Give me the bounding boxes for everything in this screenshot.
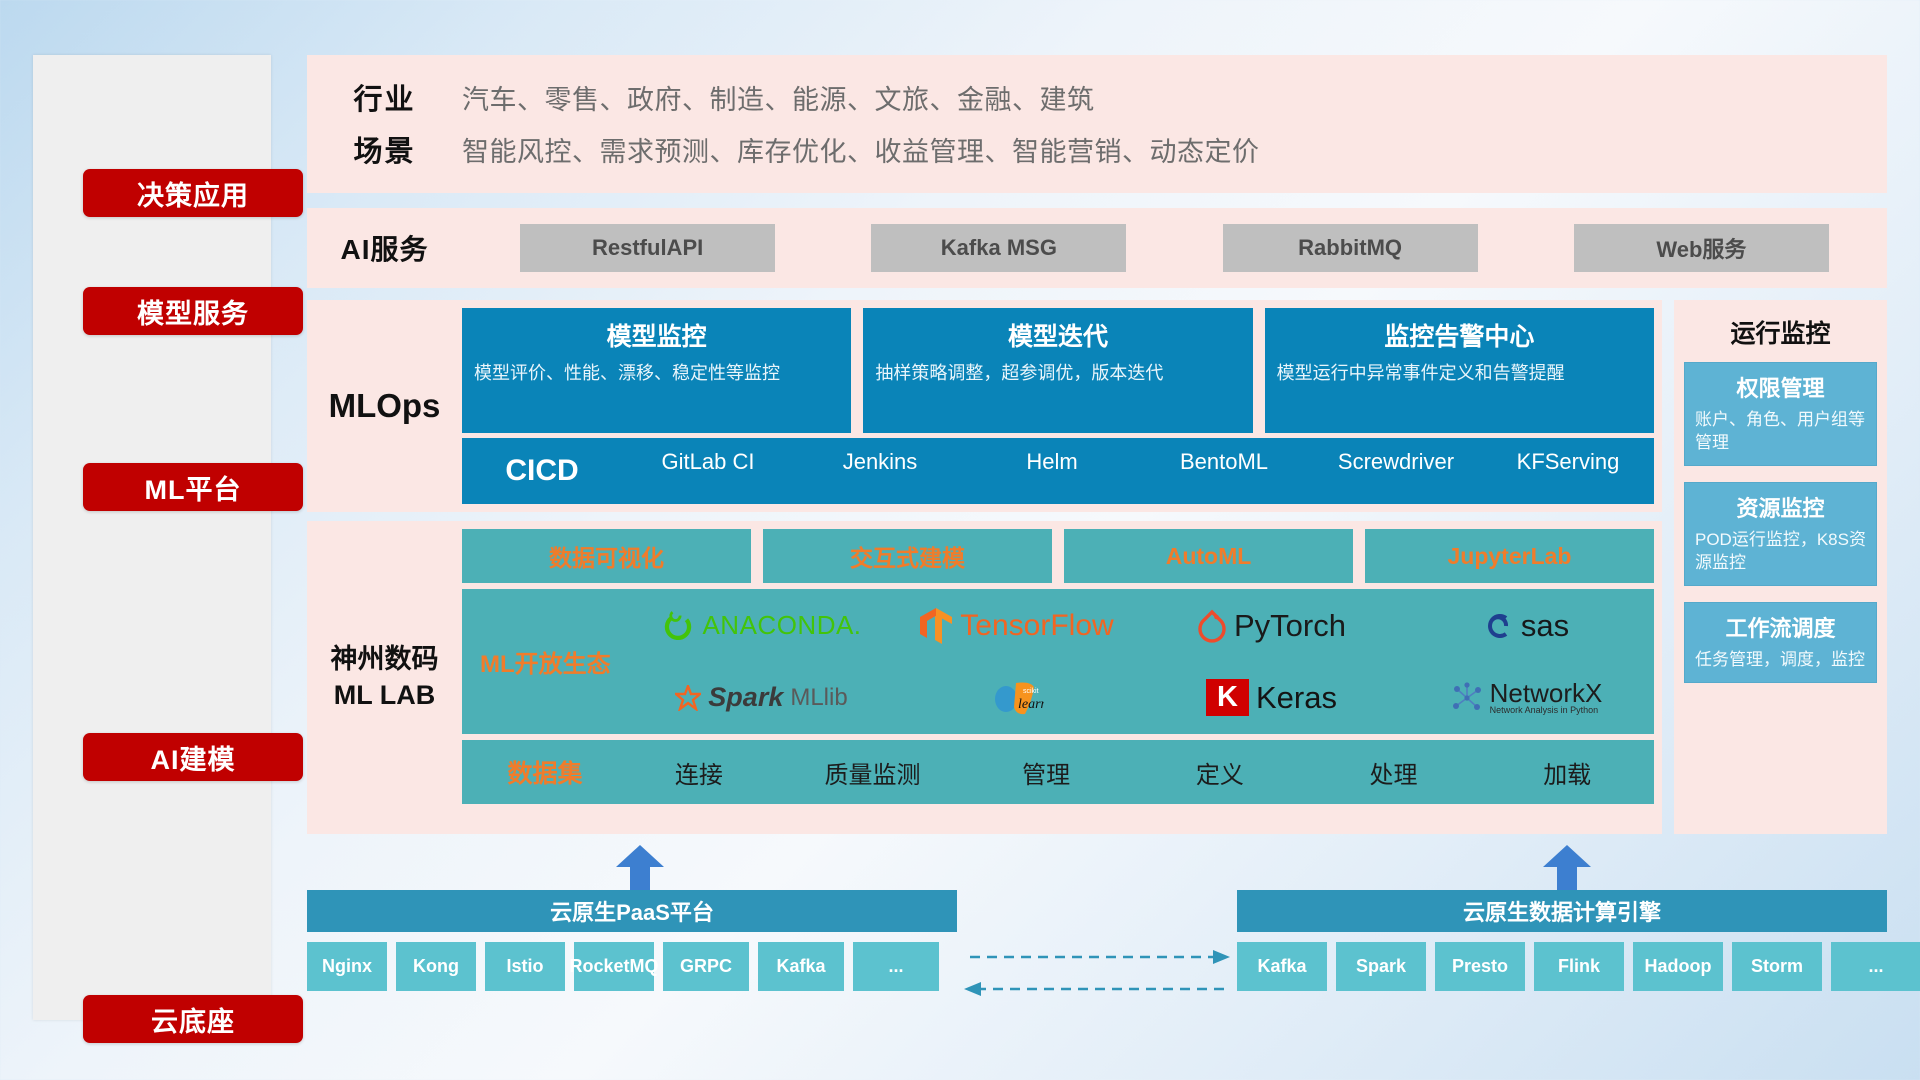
rail-item-model-service[interactable]: 模型服务	[83, 287, 303, 335]
ai-service-chip[interactable]: RabbitMQ	[1223, 224, 1478, 272]
card-title: 监控告警中心	[1277, 317, 1642, 353]
tab-jupyterlab[interactable]: JupyterLab	[1365, 529, 1654, 583]
cicd-item[interactable]: Screwdriver	[1310, 448, 1482, 494]
cicd-item[interactable]: Jenkins	[794, 448, 966, 494]
card-desc: 抽样策略调整，超参调优，版本迭代	[875, 361, 1240, 385]
logo-keras-text: Keras	[1256, 680, 1337, 716]
logo-networkx-subtext: Network Analysis in Python	[1490, 706, 1603, 715]
data-engine-bar[interactable]: 云原生数据计算引擎	[1237, 890, 1887, 932]
cicd-item[interactable]: GitLab CI	[622, 448, 794, 494]
mlops-card-model-iteration[interactable]: 模型迭代 抽样策略调整，超参调优，版本迭代	[863, 308, 1252, 433]
logo-anaconda: ANACONDA.	[634, 609, 889, 643]
card-title: 权限管理	[1695, 371, 1866, 403]
monitor-card-resources[interactable]: 资源监控 POD运行监控，K8S资源监控	[1684, 482, 1877, 586]
ml-lab-label-line1: 神州数码	[331, 642, 439, 677]
monitor-card-permissions[interactable]: 权限管理 账户、角色、用户组等管理	[1684, 362, 1877, 466]
rail-label: AI建模	[151, 738, 236, 777]
engine-chip-more[interactable]: ...	[1831, 942, 1920, 991]
card-title: 工作流调度	[1695, 611, 1866, 643]
ml-ecosystem-label: ML开放生态	[480, 644, 630, 679]
paas-platform-bar[interactable]: 云原生PaaS平台	[307, 890, 957, 932]
ml-lab-label-line2: ML LAB	[334, 678, 436, 713]
card-desc: 模型运行中异常事件定义和告警提醒	[1277, 361, 1642, 385]
engine-chip-group: Kafka Spark Presto Flink Hadoop Storm ..…	[1237, 942, 1920, 991]
ml-lab-content: 数据可视化 交互式建模 AutoML JupyterLab ML开放生态	[462, 521, 1662, 834]
card-desc: 模型评价、性能、漂移、稳定性等监控	[474, 361, 839, 385]
left-rail: 决策应用 模型服务 ML平台 AI建模 云底座	[33, 55, 271, 1020]
ml-lab-tab-group: 数据可视化 交互式建模 AutoML JupyterLab	[462, 529, 1654, 583]
paas-chip-more[interactable]: ...	[853, 942, 939, 991]
mlops-card-model-monitor[interactable]: 模型监控 模型评价、性能、漂移、稳定性等监控	[462, 308, 851, 433]
card-desc: 账户、角色、用户组等管理	[1695, 409, 1866, 455]
rail-label: 决策应用	[137, 174, 249, 213]
bidirectional-dashed-connector-icon	[962, 945, 1232, 1001]
scenario-values: 智能风控、需求预测、库存优化、收益管理、智能营销、动态定价	[462, 130, 1260, 169]
dataset-item-group: 连接 质量监测 管理 定义 处理 加载	[612, 755, 1654, 790]
industry-row: 行业 汽车、零售、政府、制造、能源、文旅、金融、建筑	[307, 71, 1887, 123]
dataset-item[interactable]: 定义	[1133, 755, 1307, 790]
sas-icon	[1484, 611, 1514, 641]
rail-label: 模型服务	[137, 292, 249, 331]
mlops-band: MLOps 模型监控 模型评价、性能、漂移、稳定性等监控 模型迭代 抽样策略调整…	[307, 300, 1662, 512]
cicd-item[interactable]: Helm	[966, 448, 1138, 494]
logo-pytorch: PyTorch	[1144, 608, 1399, 644]
tab-interactive-modeling[interactable]: 交互式建模	[763, 529, 1052, 583]
dataset-item[interactable]: 连接	[612, 755, 786, 790]
paas-chip-nginx[interactable]: Nginx	[307, 942, 387, 991]
dataset-item[interactable]: 管理	[959, 755, 1133, 790]
engine-chip-presto[interactable]: Presto	[1435, 942, 1525, 991]
logo-tensorflow: TensorFlow	[889, 607, 1144, 645]
rail-label: 云底座	[151, 1000, 235, 1039]
pytorch-icon	[1197, 609, 1227, 643]
industry-values: 汽车、零售、政府、制造、能源、文旅、金融、建筑	[462, 78, 1095, 117]
card-title: 资源监控	[1695, 491, 1866, 523]
logo-anaconda-text: ANACONDA.	[702, 610, 861, 641]
cicd-item[interactable]: BentoML	[1138, 448, 1310, 494]
svg-text:scikit: scikit	[1023, 688, 1039, 695]
card-desc: POD运行监控，K8S资源监控	[1695, 529, 1866, 575]
logo-pytorch-text: PyTorch	[1234, 608, 1346, 644]
paas-chip-rocketmq[interactable]: RocketMQ	[574, 942, 654, 991]
tab-automl[interactable]: AutoML	[1064, 529, 1353, 583]
mlops-label: MLOps	[307, 300, 462, 512]
anaconda-icon	[661, 609, 695, 643]
svg-text:learn: learn	[1018, 697, 1044, 712]
monitor-card-workflow[interactable]: 工作流调度 任务管理，调度，监控	[1684, 602, 1877, 683]
scenario-row: 场景 智能风控、需求预测、库存优化、收益管理、智能营销、动态定价	[307, 123, 1887, 175]
dataset-label: 数据集	[462, 754, 612, 790]
cicd-bar: CICD GitLab CI Jenkins Helm BentoML Scre…	[462, 438, 1654, 504]
keras-mark-icon: K	[1206, 679, 1249, 716]
ai-service-band: AI服务 RestfulAPI Kafka MSG RabbitMQ Web服务	[307, 208, 1887, 288]
networkx-icon	[1451, 682, 1483, 714]
runtime-monitor-panel: 运行监控 权限管理 账户、角色、用户组等管理 资源监控 POD运行监控，K8S资…	[1674, 300, 1887, 834]
logo-sas: sas	[1399, 608, 1654, 644]
paas-chip-kafka[interactable]: Kafka	[758, 942, 844, 991]
dataset-item[interactable]: 处理	[1307, 755, 1481, 790]
scenario-label: 场景	[307, 128, 462, 170]
cicd-title: CICD	[462, 454, 622, 488]
ai-service-chip[interactable]: Kafka MSG	[871, 224, 1126, 272]
spark-star-icon	[675, 685, 701, 711]
ai-service-label: AI服务	[307, 228, 462, 268]
tab-data-visualization[interactable]: 数据可视化	[462, 529, 751, 583]
logo-keras: K Keras	[1144, 679, 1399, 716]
cicd-item-group: GitLab CI Jenkins Helm BentoML Screwdriv…	[622, 448, 1654, 494]
dataset-band: 数据集 连接 质量监测 管理 定义 处理 加载	[462, 740, 1654, 804]
engine-chip-kafka[interactable]: Kafka	[1237, 942, 1327, 991]
ai-service-chip-group: RestfulAPI Kafka MSG RabbitMQ Web服务	[462, 224, 1887, 272]
card-title: 模型迭代	[875, 317, 1240, 353]
rail-label: ML平台	[145, 468, 242, 507]
logo-scikit-learn: scikit learn	[889, 678, 1144, 718]
engine-chip-flink[interactable]: Flink	[1534, 942, 1624, 991]
dataset-item[interactable]: 加载	[1480, 755, 1654, 790]
card-desc: 任务管理，调度，监控	[1695, 649, 1866, 672]
cloud-base-section: 云原生PaaS平台 云原生数据计算引擎 Nginx Kong Istio Roc…	[307, 845, 1887, 1020]
ml-lab-band: 神州数码 ML LAB 数据可视化 交互式建模 AutoML JupyterLa…	[307, 521, 1662, 834]
logo-spark-text: Spark	[708, 682, 783, 713]
card-title: 模型监控	[474, 317, 839, 353]
ml-ecosystem-logos: ANACONDA. TensorFlow	[634, 589, 1654, 734]
paas-platform-title: 云原生PaaS平台	[550, 895, 714, 927]
rail-item-ml-platform[interactable]: ML平台	[83, 463, 303, 511]
engine-chip-hadoop[interactable]: Hadoop	[1633, 942, 1723, 991]
cicd-item[interactable]: KFServing	[1482, 448, 1654, 494]
engine-chip-storm[interactable]: Storm	[1732, 942, 1822, 991]
mlops-content: 模型监控 模型评价、性能、漂移、稳定性等监控 模型迭代 抽样策略调整，超参调优，…	[462, 300, 1662, 512]
ml-ecosystem-logo-row-2: Spark MLlib scikit learn	[634, 662, 1654, 734]
paas-chip-group: Nginx Kong Istio RocketMQ GRPC Kafka ...	[307, 942, 939, 991]
logo-tensorflow-text: TensorFlow	[960, 609, 1113, 643]
paas-chip-grpc[interactable]: GRPC	[663, 942, 749, 991]
industry-scenario-band: 行业 汽车、零售、政府、制造、能源、文旅、金融、建筑 场景 智能风控、需求预测、…	[307, 55, 1887, 193]
rail-item-decision-app[interactable]: 决策应用	[83, 169, 303, 217]
tensorflow-icon	[919, 607, 953, 645]
dataset-item[interactable]: 质量监测	[786, 755, 960, 790]
diagram-canvas: 决策应用 模型服务 ML平台 AI建模 云底座 行业 汽车、零售、政府、制造、能…	[0, 0, 1920, 1080]
runtime-monitor-title: 运行监控	[1684, 314, 1877, 350]
logo-networkx-text: NetworkX	[1490, 680, 1603, 706]
ai-service-chip[interactable]: Web服务	[1574, 224, 1829, 272]
ml-ecosystem-logo-row-1: ANACONDA. TensorFlow	[634, 590, 1654, 662]
ai-service-chip[interactable]: RestfulAPI	[520, 224, 775, 272]
data-engine-title: 云原生数据计算引擎	[1463, 895, 1661, 927]
logo-sas-text: sas	[1521, 608, 1569, 644]
logo-networkx: NetworkX Network Analysis in Python	[1399, 680, 1654, 715]
industry-label: 行业	[307, 76, 462, 118]
ml-lab-label: 神州数码 ML LAB	[307, 521, 462, 834]
logo-mllib-text: MLlib	[790, 684, 847, 712]
engine-chip-spark[interactable]: Spark	[1336, 942, 1426, 991]
scikit-learn-icon: scikit learn	[990, 678, 1044, 718]
arrow-up-engine-icon	[1539, 845, 1595, 893]
rail-item-ai-modeling[interactable]: AI建模	[83, 733, 303, 781]
paas-chip-kong[interactable]: Kong	[396, 942, 476, 991]
mlops-card-group: 模型监控 模型评价、性能、漂移、稳定性等监控 模型迭代 抽样策略调整，超参调优，…	[462, 308, 1654, 433]
arrow-up-paas-icon	[612, 845, 668, 893]
mlops-card-alert-center[interactable]: 监控告警中心 模型运行中异常事件定义和告警提醒	[1265, 308, 1654, 433]
ml-ecosystem-band: ML开放生态 ANACONDA.	[462, 589, 1654, 734]
paas-chip-istio[interactable]: Istio	[485, 942, 565, 991]
logo-spark-mllib: Spark MLlib	[634, 682, 889, 713]
rail-item-cloud-base[interactable]: 云底座	[83, 995, 303, 1043]
